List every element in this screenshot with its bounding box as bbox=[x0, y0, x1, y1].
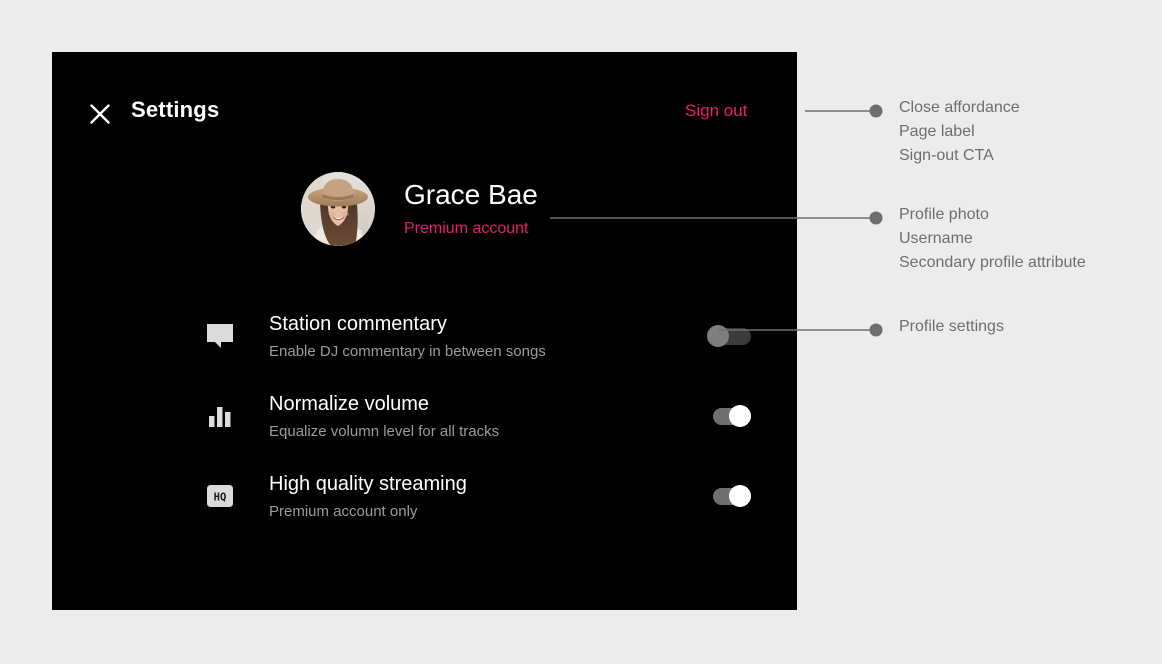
settings-list: Station commentary Enable DJ commentary … bbox=[52, 296, 797, 536]
svg-text:HQ: HQ bbox=[214, 492, 227, 504]
settings-row-title: Station commentary bbox=[269, 313, 546, 336]
settings-row-normalize-volume[interactable]: Normalize volume Equalize volumn level f… bbox=[52, 376, 797, 456]
close-button[interactable] bbox=[80, 94, 120, 134]
page-title: Settings bbox=[131, 97, 219, 123]
settings-panel: Settings Sign out bbox=[52, 52, 797, 610]
sign-out-button[interactable]: Sign out bbox=[685, 101, 747, 121]
settings-row-station-commentary[interactable]: Station commentary Enable DJ commentary … bbox=[52, 296, 797, 376]
settings-row-subtitle: Premium account only bbox=[269, 503, 467, 520]
settings-row-subtitle: Equalize volumn level for all tracks bbox=[269, 423, 499, 440]
toggle-knob bbox=[729, 405, 751, 427]
toggle-knob bbox=[729, 485, 751, 507]
annotation-line: Page label bbox=[899, 120, 1020, 144]
panel-header: Settings Sign out bbox=[52, 52, 797, 172]
hq-badge-icon: HQ bbox=[203, 479, 237, 513]
equalizer-bars-icon bbox=[203, 399, 237, 433]
settings-row-title: Normalize volume bbox=[269, 393, 499, 416]
annotation-line: Secondary profile attribute bbox=[899, 251, 1086, 275]
annotation-leader-line bbox=[550, 211, 890, 225]
settings-row-high-quality-streaming[interactable]: HQ High quality streaming Premium accoun… bbox=[52, 456, 797, 536]
profile-name: Grace Bae bbox=[404, 180, 538, 211]
annotation-leader-line bbox=[805, 104, 889, 118]
annotation-profile-lines: Profile photo Username Secondary profile… bbox=[899, 203, 1086, 275]
comment-bubble-icon bbox=[203, 319, 237, 353]
annotation-line: Sign-out CTA bbox=[899, 144, 1020, 168]
avatar[interactable] bbox=[301, 172, 375, 246]
annotation-header-lines: Close affordance Page label Sign-out CTA bbox=[899, 96, 1020, 168]
annotation-line: Username bbox=[899, 227, 1086, 251]
profile-subtitle: Premium account bbox=[404, 220, 538, 238]
settings-row-text: Station commentary Enable DJ commentary … bbox=[269, 313, 546, 360]
annotation-line: Profile photo bbox=[899, 203, 1086, 227]
toggle-high-quality-streaming[interactable] bbox=[707, 485, 751, 507]
annotation-leader-line bbox=[718, 323, 890, 337]
annotation-line: Close affordance bbox=[899, 96, 1020, 120]
annotation-settings-lines: Profile settings bbox=[899, 315, 1004, 339]
settings-row-title: High quality streaming bbox=[269, 473, 467, 496]
close-x-icon bbox=[89, 103, 111, 125]
profile-block: Grace Bae Premium account bbox=[301, 172, 538, 246]
annotation-line: Profile settings bbox=[899, 315, 1004, 339]
toggle-normalize-volume[interactable] bbox=[707, 405, 751, 427]
settings-row-subtitle: Enable DJ commentary in between songs bbox=[269, 343, 546, 360]
profile-text: Grace Bae Premium account bbox=[404, 180, 538, 239]
settings-row-text: High quality streaming Premium account o… bbox=[269, 473, 467, 520]
settings-row-text: Normalize volume Equalize volumn level f… bbox=[269, 393, 499, 440]
profile-photo bbox=[301, 172, 375, 246]
